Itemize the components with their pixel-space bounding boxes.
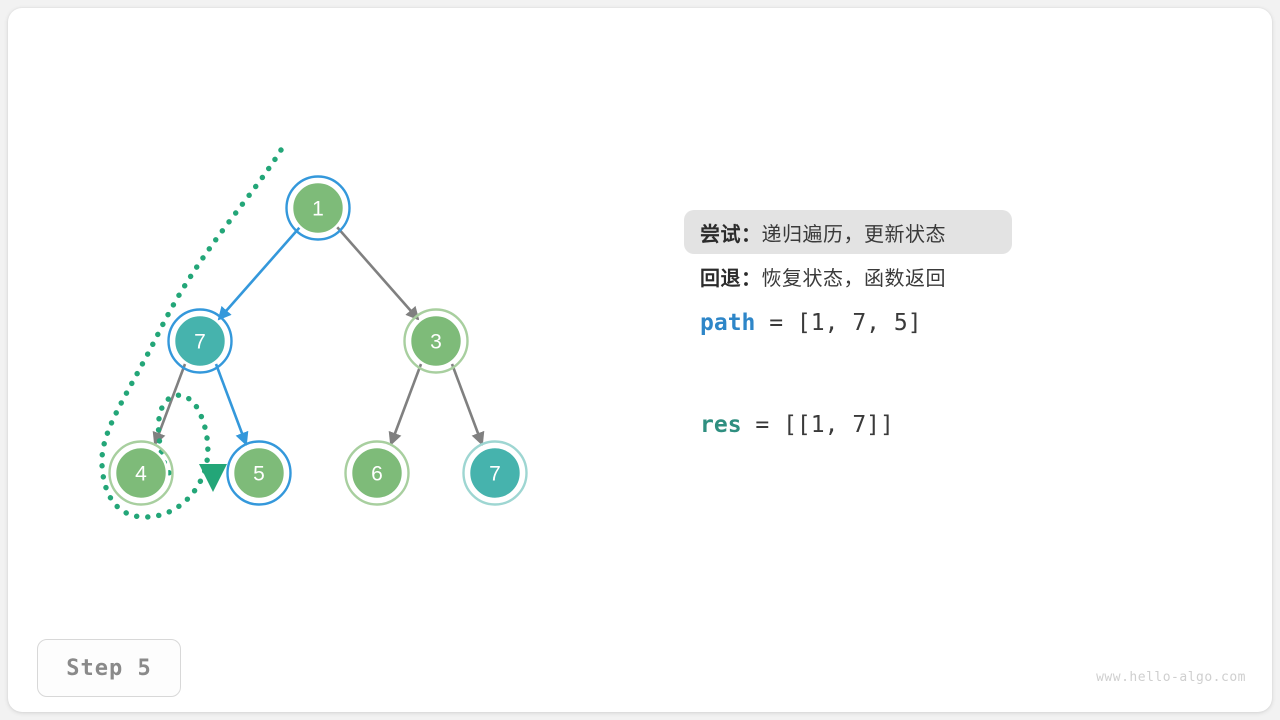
- edge-3-to-6: [391, 364, 421, 444]
- node-7-left-label: 7: [194, 331, 206, 354]
- try-action-row: 尝试：递归遍历，更新状态: [684, 210, 1012, 254]
- res-variable-name: res: [700, 412, 742, 438]
- edge-1-to-7: [219, 227, 300, 319]
- node-5-label: 5: [253, 463, 265, 486]
- res-variable-row: res = [[1, 7]]: [684, 400, 1204, 450]
- path-variable-name: path: [700, 310, 755, 336]
- watermark: www.hello-algo.com: [1096, 670, 1246, 685]
- tree-node-3[interactable]: 3: [405, 310, 468, 373]
- edge-3-to-7r: [452, 364, 482, 444]
- backtrack-label: 回退：: [700, 262, 762, 291]
- res-variable-value: = [[1, 7]]: [742, 412, 894, 438]
- tree-node-7-right[interactable]: 7: [464, 442, 527, 505]
- tree-node-5[interactable]: 5: [228, 442, 291, 505]
- step-badge: Step 5: [37, 639, 181, 697]
- backtrack-action-row: 回退：恢复状态，函数返回: [684, 254, 1204, 298]
- path-variable-row: path = [1, 7, 5]: [684, 298, 1204, 348]
- try-description: 递归遍历，更新状态: [762, 218, 947, 247]
- tree-node-6[interactable]: 6: [346, 442, 409, 505]
- tree-node-1[interactable]: 1: [287, 177, 350, 240]
- tree-node-4[interactable]: 4: [110, 442, 173, 505]
- backtrack-description: 恢复状态，函数返回: [762, 262, 947, 291]
- edge-1-to-3: [337, 227, 418, 319]
- node-4-label: 4: [135, 463, 147, 486]
- node-6-label: 6: [371, 463, 383, 486]
- explanation-panel: 尝试：递归遍历，更新状态 回退：恢复状态，函数返回 path = [1, 7, …: [684, 210, 1204, 450]
- node-3-label: 3: [430, 331, 442, 354]
- edge-7-to-5: [216, 364, 246, 444]
- path-variable-value: = [1, 7, 5]: [755, 310, 921, 336]
- node-7-right-label: 7: [489, 463, 501, 486]
- screenshot-root: 1 7 3 4 5 6 7: [0, 0, 1280, 720]
- tree-node-7-left[interactable]: 7: [169, 310, 232, 373]
- node-1-label: 1: [312, 198, 324, 221]
- try-label: 尝试：: [700, 218, 762, 247]
- backtrack-arrowhead: [199, 464, 227, 492]
